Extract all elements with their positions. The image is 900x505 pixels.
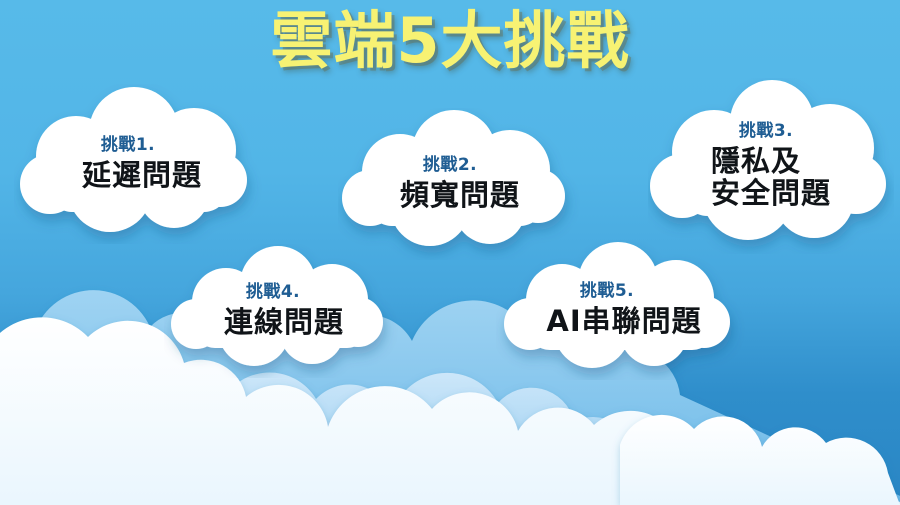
cloud-shape-icon — [164, 244, 404, 378]
cloud-shape-icon — [14, 84, 270, 244]
challenge-cloud-4[interactable]: 挑戰4. 連線問題 — [164, 244, 404, 378]
cloud-shape-icon — [338, 108, 582, 260]
cloud-bank-decoration — [0, 245, 900, 505]
challenge-cloud-2[interactable]: 挑戰2. 頻寬問題 — [338, 108, 582, 260]
cloud-shape-icon — [648, 78, 894, 254]
slide-canvas: 雲端5大挑戰 挑戰1. 延遲問題 — [0, 0, 900, 505]
page-title: 雲端5大挑戰 — [270, 8, 629, 73]
challenge-cloud-5[interactable]: 挑戰5. AI串聯問題 — [496, 240, 752, 380]
challenge-cloud-3[interactable]: 挑戰3. 隱私及 安全問題 — [648, 78, 894, 254]
cloud-layer-white-bumps — [620, 415, 900, 505]
title-block: 雲端5大挑戰 — [0, 8, 900, 73]
challenge-cloud-1[interactable]: 挑戰1. 延遲問題 — [14, 84, 270, 244]
cloud-shape-icon — [496, 240, 752, 380]
